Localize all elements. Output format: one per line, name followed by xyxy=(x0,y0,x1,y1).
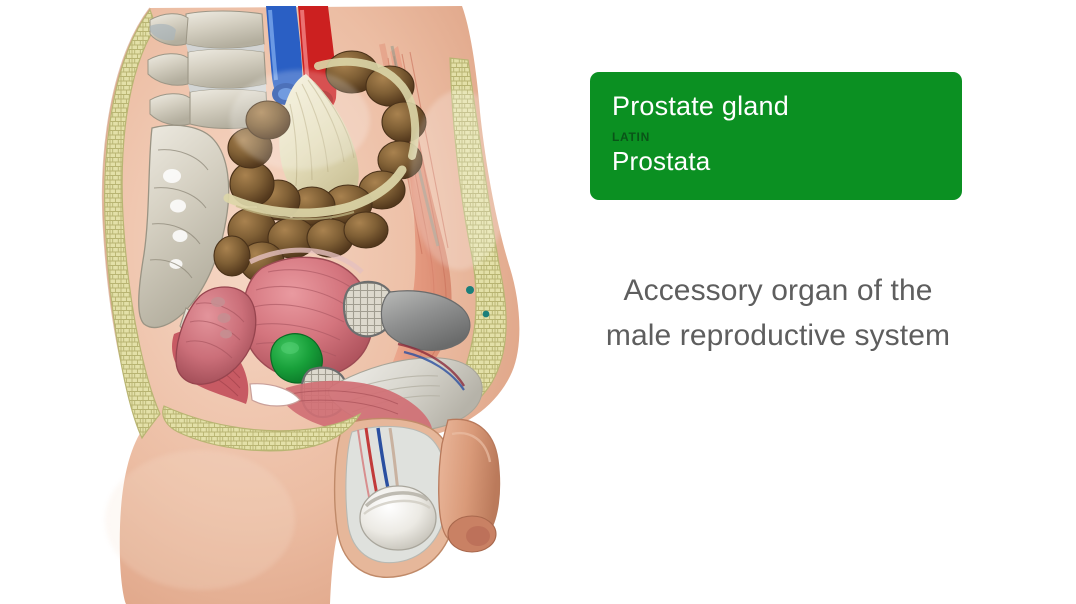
slide-root: Prostate gland LATIN Prostata Accessory … xyxy=(0,0,1076,604)
description-line-1: Accessory organ of the xyxy=(548,268,1008,313)
male-pelvis-sagittal-section xyxy=(0,0,540,604)
description-line-2: male reproductive system xyxy=(548,313,1008,358)
latin-label: LATIN xyxy=(612,129,940,145)
term-info-card: Prostate gland LATIN Prostata xyxy=(590,72,962,200)
term-description: Accessory organ of the male reproductive… xyxy=(548,268,1008,358)
term-title: Prostate gland xyxy=(612,90,940,122)
penis xyxy=(439,419,500,552)
term-latin-name: Prostata xyxy=(612,146,940,177)
anatomy-illustration xyxy=(0,0,540,604)
